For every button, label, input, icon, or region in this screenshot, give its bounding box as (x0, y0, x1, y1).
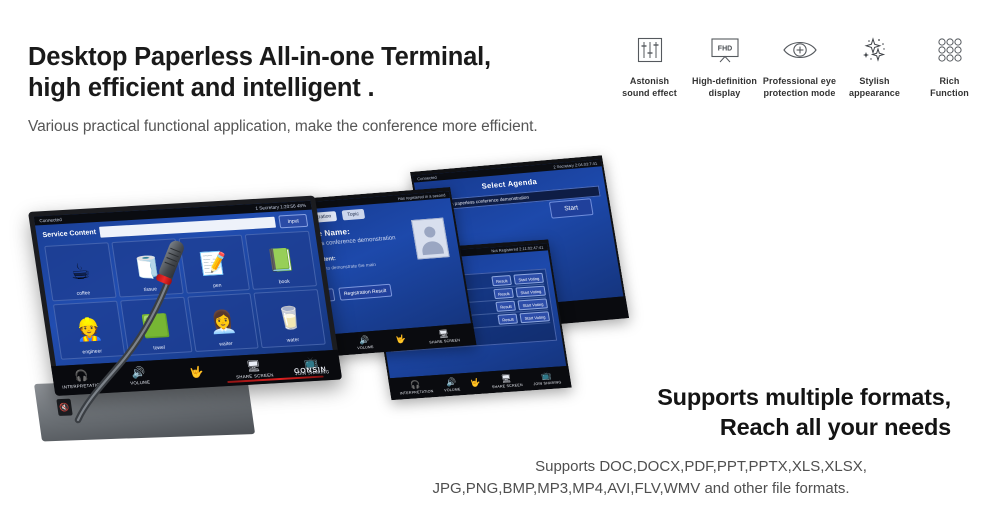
status-left: Connected (39, 217, 62, 223)
input-button[interactable]: Input (278, 214, 308, 228)
status-right: Has registered in a second (397, 192, 445, 201)
promo-line-2: Reach all your needs (331, 412, 951, 442)
feature-label: Professional eye protection mode (763, 76, 836, 99)
avatar-body (420, 241, 443, 255)
dock-item-label: SHARE SCREEN (429, 338, 460, 344)
dock-item-sign-language[interactable]: 🤟 (395, 334, 407, 345)
registration-result-button[interactable]: Registration Result (338, 284, 392, 301)
service-item-book[interactable]: 📗 book (245, 231, 317, 290)
service-item-label: engineer (61, 347, 124, 357)
feature-label-line-2: display (692, 88, 757, 100)
result-button[interactable]: Result (497, 313, 518, 324)
feature-label-line-1: Stylish (849, 76, 900, 88)
mute-microphone-icon[interactable]: 🔇 (56, 399, 72, 416)
volume-icon: 🔊 (359, 335, 370, 345)
coffee-icon: ☕ (69, 260, 92, 283)
dock-item-interpretation[interactable]: 🎧 INTERPRETATION (52, 369, 112, 390)
service-item-engineer[interactable]: 👷 engineer (53, 301, 125, 360)
terminal-screen: Connected 1 Secretary 1:20:56 48% Servic… (28, 195, 342, 395)
start-button[interactable]: Start (549, 198, 594, 218)
feature-label-line-1: Astonish (622, 76, 677, 88)
start-voting-button[interactable]: Start Voting (518, 298, 548, 310)
promo-title: Supports multiple formats, Reach all you… (331, 382, 951, 442)
engineer-icon: 👷 (74, 319, 105, 342)
start-voting-button[interactable]: Start Voting (514, 273, 544, 285)
equalizer-icon (635, 30, 665, 70)
towel-icon: 🟩 (141, 315, 172, 338)
feature-label-line-1: Rich (930, 76, 969, 88)
join-sharing-icon: 📺 (541, 371, 552, 381)
feature-label: Stylish appearance (849, 76, 900, 99)
feature-label: Astonish sound effect (622, 76, 677, 99)
feature-stylish-appearance: Stylish appearance (837, 30, 912, 99)
feature-label-line-1: Professional eye (763, 76, 836, 88)
page-title: Desktop Paperless All-in-one Terminal, h… (28, 42, 628, 104)
share-screen-icon: 🖥 (438, 329, 450, 339)
status-right: 2 Secretary 2:04:03:7:41 (553, 161, 598, 170)
promo-page: Desktop Paperless All-in-one Terminal, h… (0, 0, 987, 523)
status-right: 1 Secretary 1:20:56 48% (255, 203, 306, 211)
tab-topic[interactable]: Topic (341, 209, 364, 221)
service-item-label: water (262, 336, 325, 346)
feature-label-line-1: High-definition (692, 76, 757, 88)
sign-language-icon: 🤟 (395, 334, 406, 344)
start-voting-button[interactable]: Start Voting (520, 311, 550, 323)
dock-item-sign-language[interactable]: 🤟 (167, 365, 226, 381)
interpretation-icon: 🎧 (74, 370, 90, 383)
service-item-waiter[interactable]: 👩‍💼 waiter (187, 293, 259, 352)
book-icon: 📗 (266, 249, 297, 272)
feature-astonish-sound-effect: Astonish sound effect (612, 30, 687, 99)
promo-line-1: Supports multiple formats, (657, 384, 951, 410)
service-item-label: pen (186, 281, 249, 291)
feature-label-line-2: sound effect (622, 88, 677, 100)
subheadline: Various practical functional application… (28, 118, 538, 136)
feature-label: High-definition display (692, 76, 757, 99)
formats-line-1: Supports DOC,DOCX,PDF,PPT,PPTX,XLS,XLSX, (331, 456, 951, 478)
feature-label: Rich Function (930, 76, 969, 99)
headline-block: Desktop Paperless All-in-one Terminal, h… (28, 42, 628, 104)
dock-item-label: VOLUME (130, 380, 151, 386)
service-item-coffee[interactable]: ☕ coffee (44, 242, 116, 301)
dock-item-label: INTERPRETATION (62, 382, 104, 389)
start-voting-button[interactable]: Start Voting (516, 286, 546, 298)
service-content-label: Service Content (42, 229, 96, 239)
eye-protection-icon (780, 30, 820, 70)
terminal-ui: Connected 1 Secretary 1:20:56 48% Servic… (34, 201, 333, 366)
dock-item-share-screen[interactable]: 🖥 SHARE SCREEN (224, 359, 284, 380)
result-button[interactable]: Result (495, 301, 516, 312)
water-icon: 🥛 (274, 307, 305, 330)
waiter-icon: 👩‍💼 (207, 311, 238, 334)
service-item-label: towel (128, 343, 191, 353)
headline-line-2: high efficient and intelligent . (28, 73, 628, 104)
result-button[interactable]: Result (493, 288, 514, 299)
feature-eye-protection-mode: Professional eye protection mode (762, 30, 837, 99)
dock-item-volume[interactable]: 🔊 VOLUME (355, 335, 374, 350)
user-avatar-icon (411, 218, 450, 260)
supported-formats: Supports DOC,DOCX,PDF,PPT,PPTX,XLS,XLSX,… (331, 456, 951, 500)
feature-high-definition-display: FHD High-definition display (687, 30, 762, 99)
dock-item-volume[interactable]: 🔊 VOLUME (109, 366, 169, 387)
avatar-head (423, 226, 436, 238)
service-item-label: coffee (52, 289, 115, 299)
service-item-label: waiter (195, 339, 258, 349)
formats-line-2: JPG,PNG,BMP,MP3,MP4,AVI,FLV,WMV and othe… (331, 478, 951, 500)
dock-item-label: VOLUME (357, 345, 374, 350)
desktop-terminal-device: 🔇 Connected 1 Secretary 1:20:56 48% Serv… (28, 212, 328, 457)
headline-line-1: Desktop Paperless All-in-one Terminal, (28, 43, 491, 71)
sparkles-icon (858, 30, 892, 70)
fhd-display-icon: FHD (708, 30, 742, 70)
status-right: Not Registered 2:11:02:47:41 (491, 245, 544, 254)
voting-row-actions: Result Start Voting (497, 311, 550, 324)
result-button[interactable]: Result (491, 275, 512, 286)
service-item-towel[interactable]: 🟩 towel (120, 297, 192, 356)
fhd-badge-text: FHD (717, 46, 731, 53)
service-item-pen[interactable]: 📝 pen (178, 235, 250, 294)
service-grid: ☕ coffee 🧻 tissue 📝 pen 📗 (44, 231, 326, 360)
service-item-label: book (253, 277, 316, 287)
promo-block: Supports multiple formats, Reach all you… (331, 382, 951, 500)
feature-label-line-2: Function (930, 88, 969, 100)
pen-icon: 📝 (199, 252, 230, 275)
tissue-icon: 🧻 (132, 256, 163, 279)
dock-item-share-screen[interactable]: 🖥 SHARE SCREEN (427, 328, 460, 344)
volume-icon: 🔊 (131, 367, 147, 380)
feature-label-line-2: appearance (849, 88, 900, 100)
grid-dots-icon (934, 30, 966, 70)
feature-list: Astonish sound effect FHD High-definitio… (612, 30, 987, 99)
sign-language-icon: 🤟 (189, 366, 205, 379)
feature-rich-function: Rich Function (912, 30, 987, 99)
service-item-tissue[interactable]: 🧻 tissue (111, 238, 183, 297)
share-screen-icon: 🖥 (246, 360, 262, 373)
status-left: Connected (417, 175, 437, 182)
feature-label-line-2: protection mode (763, 88, 836, 100)
service-item-label: tissue (119, 285, 182, 295)
service-item-water[interactable]: 🥛 water (254, 289, 326, 348)
